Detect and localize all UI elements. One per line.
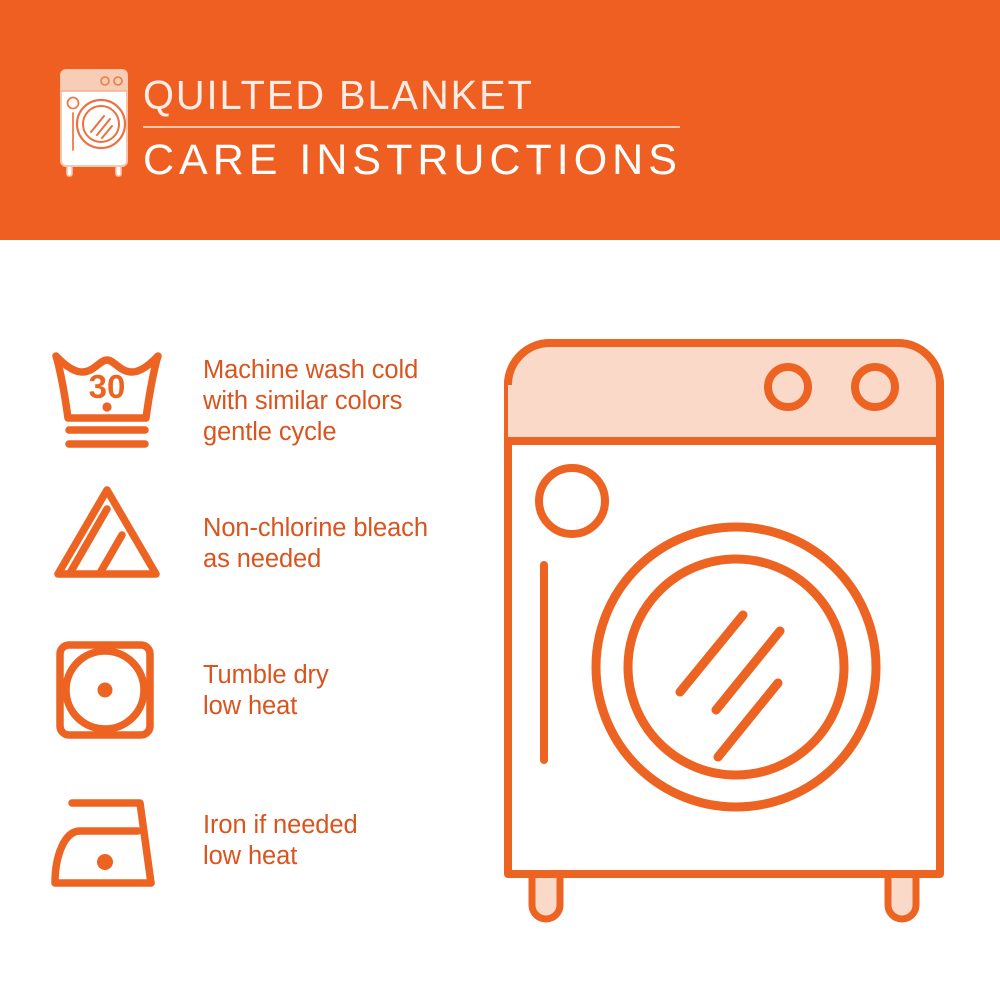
wash-tub-30-icon: 30 <box>48 344 166 456</box>
care-row-label: Machine wash cold with similar colors ge… <box>203 355 418 448</box>
header-banner: QUILTED BLANKET CARE INSTRUCTIONS <box>0 0 1000 240</box>
washing-machine-icon <box>44 62 144 180</box>
page-title-primary: QUILTED BLANKET <box>143 70 686 120</box>
knob-right <box>855 367 895 407</box>
bleach-triangle-icon <box>48 482 166 582</box>
care-row-label: Iron if needed low heat <box>203 810 358 872</box>
care-instruction-list: 30 Machine wash cold with similar colors… <box>0 240 490 1000</box>
header-divider <box>143 126 680 128</box>
header-title-group: QUILTED BLANKET CARE INSTRUCTIONS <box>143 70 703 186</box>
care-row-label: Tumble dry low heat <box>203 660 329 722</box>
knob-left <box>768 367 808 407</box>
care-row-label: Non-chlorine bleach as needed <box>203 513 428 575</box>
care-row-tumble-dry: Tumble dry low heat <box>0 635 470 775</box>
front-load-washing-machine-illustration <box>490 320 970 940</box>
wash-temperature-label: 30 <box>89 368 126 405</box>
tumble-dry-icon <box>54 640 158 740</box>
page-title-secondary: CARE INSTRUCTIONS <box>143 134 703 186</box>
care-row-bleach: Non-chlorine bleach as needed <box>0 480 470 620</box>
iron-icon <box>50 795 176 891</box>
care-row-iron: Iron if needed low heat <box>0 785 470 925</box>
care-row-machine-wash: 30 Machine wash cold with similar colors… <box>0 340 470 480</box>
